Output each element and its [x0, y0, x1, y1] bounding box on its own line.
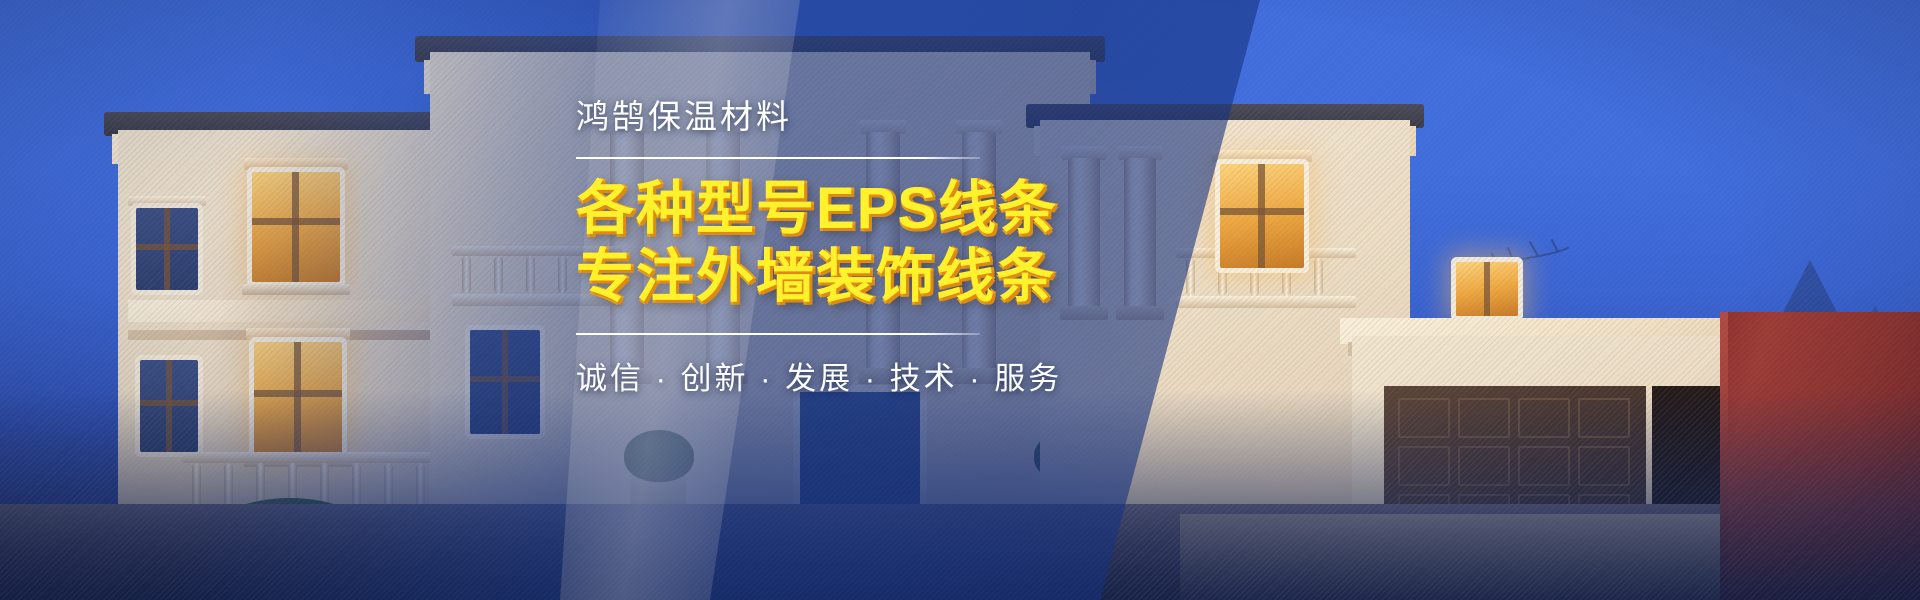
window-head: [128, 196, 206, 206]
window-head: [244, 158, 348, 170]
banner-copy: 鸿鹄保温材料 各种型号EPS线条 专注外墙装饰线条 诚信 · 创新 · 发展 ·…: [576, 96, 1336, 398]
left-wing-band: [128, 300, 434, 322]
brand-name: 鸿鹄保温材料: [576, 96, 1336, 137]
window-lit: [252, 172, 340, 282]
headline-line-1: 各种型号EPS线条: [576, 175, 1336, 243]
headline-line-2: 专注外墙装饰线条: [576, 243, 1336, 311]
hero-banner: 鸿鹄保温材料 各种型号EPS线条 专注外墙装饰线条 诚信 · 创新 · 发展 ·…: [0, 0, 1920, 600]
divider-top: [576, 157, 980, 159]
window-head: [246, 328, 350, 340]
window: [136, 208, 198, 290]
window-lit: [1456, 262, 1518, 316]
divider-bottom: [576, 333, 980, 335]
window-sill: [242, 284, 350, 295]
horizon-haze: [0, 390, 1920, 600]
tagline: 诚信 · 创新 · 发展 · 技术 · 服务: [576, 353, 1336, 398]
